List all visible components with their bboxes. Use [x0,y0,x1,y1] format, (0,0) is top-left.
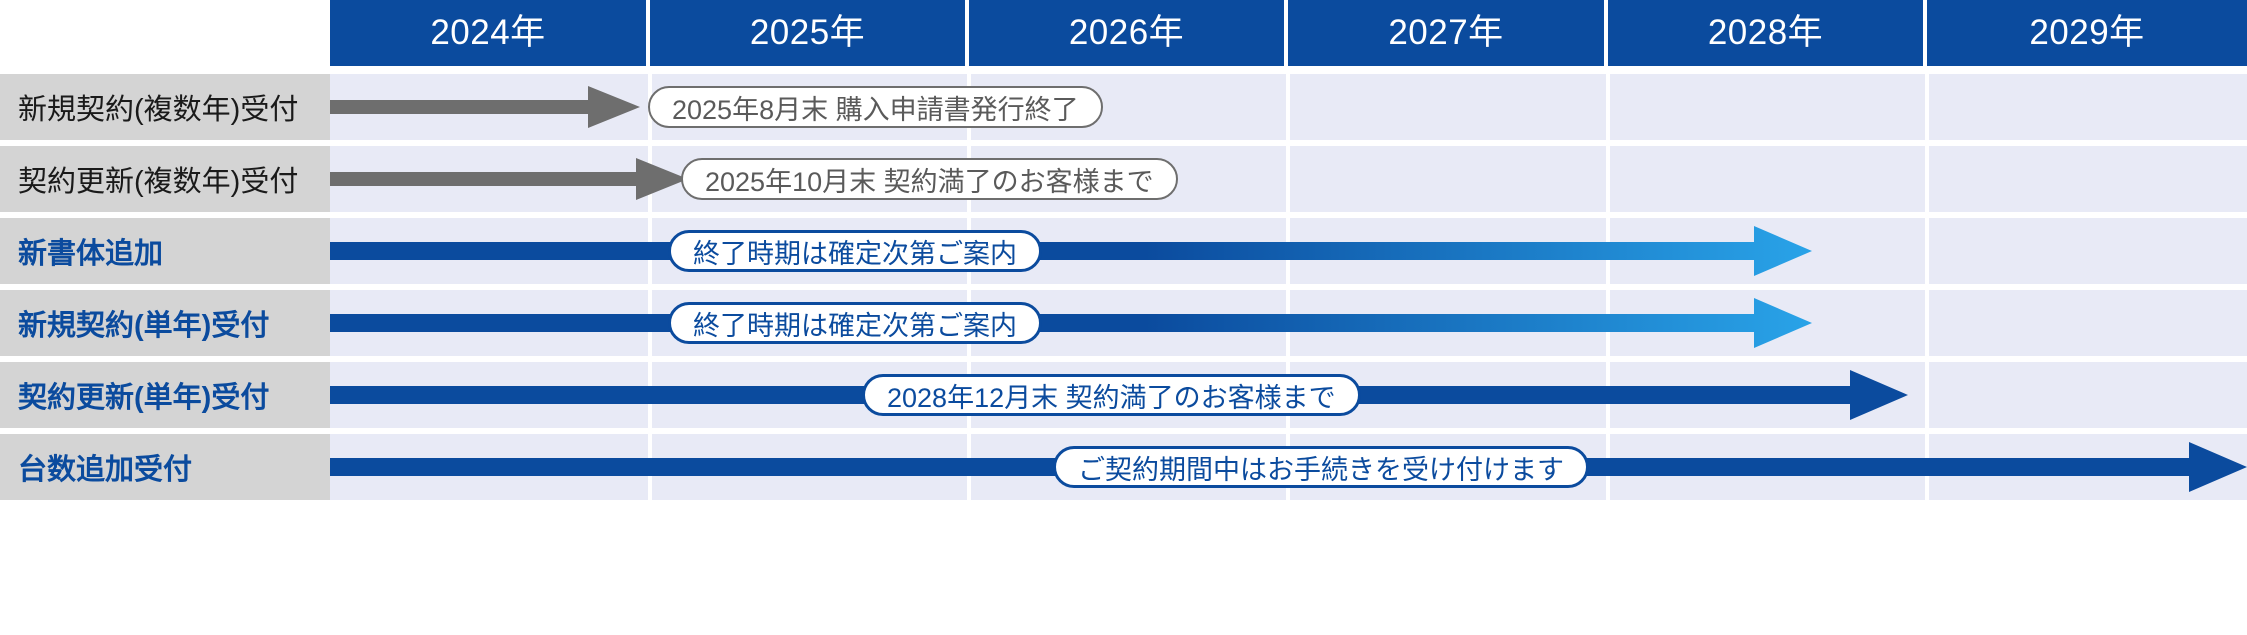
note-bubble-new-contract-multi: 2025年8月末 購入申請書発行終了 [648,86,1103,128]
grid-line [1606,362,1610,428]
grid-line [1286,146,1290,212]
timeline-row: 新規契約(複数年)受付 2025年8月末 購入申請書発行終了 [0,74,2247,140]
row-label-new-contract-multi: 新規契約(複数年)受付 [0,74,330,140]
grid-line [648,290,652,356]
timeline-rows: 新規契約(複数年)受付 2025年8月末 購入申請書発行終了 契約更新(複数年)… [0,66,2247,635]
timeline-row: 契約更新(複数年)受付 2025年10月末 契約満了のお客様まで [0,146,2247,212]
year-header-2024: 2024年 [330,0,650,66]
grid-line [1606,218,1610,284]
grid-line [1606,290,1610,356]
grid-line [1925,362,1929,428]
grid-line [1606,146,1610,212]
grid-line [1925,290,1929,356]
grid-line [1606,74,1610,140]
row-label-add-units: 台数追加受付 [0,434,330,500]
grid-line [1925,74,1929,140]
grid-line [1925,146,1929,212]
row-label-new-contract-single: 新規契約(単年)受付 [0,290,330,356]
grid-line [1925,434,1929,500]
grid-line [648,434,652,500]
note-bubble-new-typeface: 終了時期は確定次第ご案内 [668,230,1042,272]
row-label-renew-multi: 契約更新(複数年)受付 [0,146,330,212]
row-track [330,290,2247,356]
year-header-2027: 2027年 [1288,0,1608,66]
grid-line [648,146,652,212]
roadmap-timeline: 2024年 2025年 2026年 2027年 2028年 2029年 新規契約… [0,0,2247,635]
year-header-2029: 2029年 [1927,0,2247,66]
grid-line [967,434,971,500]
grid-line [1286,74,1290,140]
grid-line [1286,218,1290,284]
timeline-header: 2024年 2025年 2026年 2027年 2028年 2029年 [0,0,2247,66]
row-label-new-typeface: 新書体追加 [0,218,330,284]
note-bubble-renew-multi: 2025年10月末 契約満了のお客様まで [681,158,1178,200]
row-label-renew-single: 契約更新(単年)受付 [0,362,330,428]
header-corner-cell [0,0,330,66]
note-bubble-new-contract-single: 終了時期は確定次第ご案内 [668,302,1042,344]
year-header-2028: 2028年 [1608,0,1927,66]
row-track [330,146,2247,212]
row-track [330,218,2247,284]
note-bubble-renew-single: 2028年12月末 契約満了のお客様まで [862,374,1361,416]
timeline-row: 新規契約(単年)受付 [0,290,2247,356]
row-track [330,74,2247,140]
grid-line [1286,290,1290,356]
timeline-row: 契約更新(単年)受付 2028年12月末 契約満了のお客様まで [0,362,2247,428]
timeline-row: 新書体追加 [0,218,2247,284]
grid-line [648,362,652,428]
year-header-2025: 2025年 [650,0,969,66]
grid-line [648,218,652,284]
grid-line [1606,434,1610,500]
timeline-row: 台数追加受付 ご契約期間中はお手続きを受け付けます [0,434,2247,500]
year-header-2026: 2026年 [969,0,1288,66]
note-bubble-add-units: ご契約期間中はお手続きを受け付けます [1053,446,1589,488]
grid-line [1925,218,1929,284]
